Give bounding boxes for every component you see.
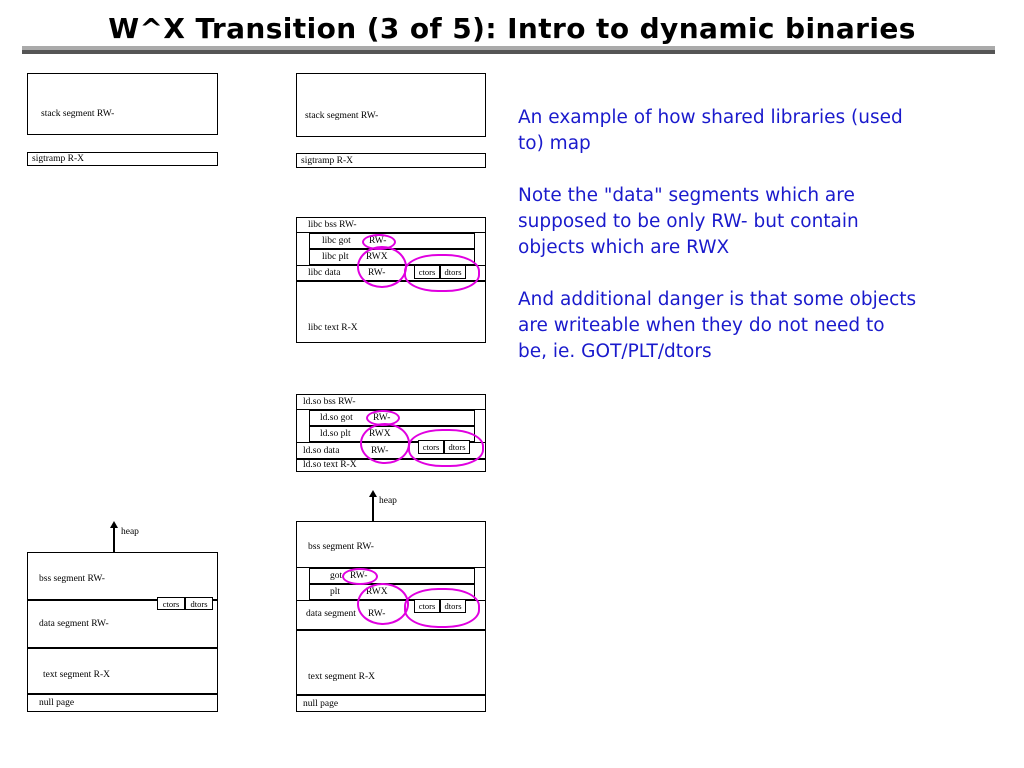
libc-text-label: libc text R-X — [308, 324, 358, 334]
libc-text-row — [296, 281, 486, 343]
page-title: W^X Transition (3 of 5): Intro to dynami… — [0, 12, 1024, 45]
commentary-paragraph-1: An example of how shared libraries (used… — [518, 105, 918, 157]
static-data-label: data segment RW- — [39, 620, 109, 630]
ldso-text-label: ld.so text R-X — [303, 461, 357, 471]
libc-got-perm-label: RW- — [369, 237, 386, 247]
static-bss-label: bss segment RW- — [39, 575, 105, 585]
dyn-dtors-box: dtors — [440, 599, 466, 613]
ldso-plt-perm-label: RWX — [369, 430, 391, 440]
ldso-data-name-label: ld.so data — [303, 447, 339, 457]
static-heap-arrow-stem — [113, 528, 115, 553]
ldso-plt-name-label: ld.so plt — [320, 430, 351, 440]
libc-got-name-label: libc got — [322, 237, 351, 247]
dyn-bss-label: bss segment RW- — [308, 543, 374, 553]
commentary-panel: An example of how shared libraries (used… — [518, 105, 918, 365]
dyn-data-name-label: data segment — [306, 610, 356, 620]
static-heap-arrow-head — [110, 521, 118, 528]
libc-ctors-box: ctors — [414, 265, 440, 279]
dyn-ctors-box: ctors — [414, 599, 440, 613]
dyn-got-perm-label: RW- — [350, 572, 367, 582]
dyn-heap-arrow-head — [369, 490, 377, 497]
dyn-heap-arrow-stem — [372, 497, 374, 521]
static-ctors-box: ctors — [157, 597, 185, 610]
dyn-stack-segment-box — [296, 73, 486, 137]
dyn-null-page-label: null page — [303, 700, 338, 710]
libc-bss-label: libc bss RW- — [308, 221, 357, 231]
static-heap-label: heap — [121, 528, 139, 538]
static-stack-segment-box — [27, 73, 218, 135]
libc-plt-perm-label: RWX — [366, 253, 388, 263]
dyn-text-label: text segment R-X — [308, 673, 375, 683]
libc-data-perm-label: RW- — [368, 269, 385, 279]
dyn-stack-segment-label: stack segment RW- — [305, 112, 378, 122]
ldso-bss-label: ld.so bss RW- — [303, 398, 356, 408]
dyn-plt-name-label: plt — [330, 588, 340, 598]
ldso-got-perm-label: RW- — [373, 414, 390, 424]
libc-data-name-label: libc data — [308, 269, 340, 279]
dyn-got-name-label: got — [330, 572, 342, 582]
dyn-sigtramp-label: sigtramp R-X — [301, 157, 353, 167]
static-null-page-label: null page — [39, 699, 74, 709]
ldso-ctors-box: ctors — [418, 440, 444, 454]
dyn-text-row — [296, 630, 486, 695]
ldso-dtors-box: dtors — [444, 440, 470, 454]
dyn-data-perm-label: RW- — [368, 610, 385, 620]
commentary-paragraph-3: And additional danger is that some objec… — [518, 287, 918, 365]
dyn-heap-label: heap — [379, 497, 397, 507]
static-stack-segment-label: stack segment RW- — [41, 110, 114, 120]
libc-plt-name-label: libc plt — [322, 253, 349, 263]
static-text-label: text segment R-X — [43, 671, 110, 681]
static-sigtramp-label: sigtramp R-X — [32, 155, 84, 165]
title-divider — [22, 50, 995, 54]
commentary-paragraph-2: Note the "data" segments which are suppo… — [518, 183, 918, 261]
dyn-plt-perm-label: RWX — [366, 588, 388, 598]
ldso-data-perm-label: RW- — [371, 447, 388, 457]
ldso-got-name-label: ld.so got — [320, 414, 353, 424]
libc-dtors-box: dtors — [440, 265, 466, 279]
static-dtors-box: dtors — [185, 597, 213, 610]
